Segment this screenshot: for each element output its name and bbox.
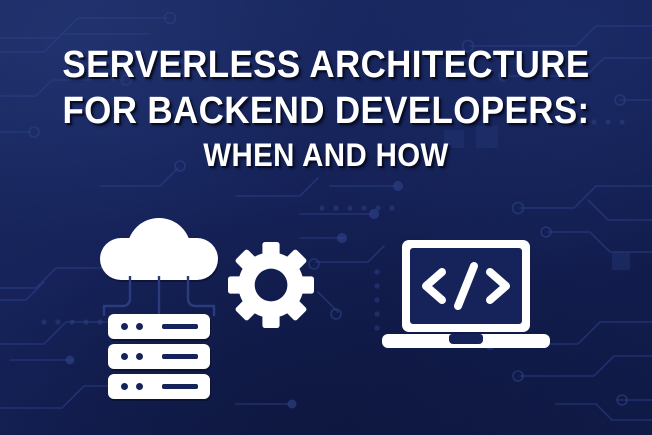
- server-indicator-dot: [121, 383, 128, 390]
- laptop-icon: [380, 238, 552, 356]
- server-slot-bar: [162, 324, 198, 329]
- poster-canvas: SERVERLESS ARCHITECTURE FOR BACKEND DEVE…: [0, 0, 652, 435]
- title-line-2: FOR BACKEND DEVELOPERS:: [26, 92, 626, 130]
- server-unit: [108, 314, 210, 339]
- title-line-3: WHEN AND HOW: [26, 139, 626, 171]
- cloud-icon: [100, 218, 218, 280]
- server-indicator-dot: [121, 353, 128, 360]
- server-unit: [108, 374, 210, 399]
- server-slot-bar: [162, 384, 198, 389]
- cloud-server-connectors: [100, 276, 218, 316]
- server-slot-bar: [162, 354, 198, 359]
- cloud-server-group: [96, 204, 222, 394]
- server-indicator-dot: [136, 353, 143, 360]
- server-indicator-dot: [136, 383, 143, 390]
- server-indicator-dot: [136, 323, 143, 330]
- poster-title: SERVERLESS ARCHITECTURE FOR BACKEND DEVE…: [0, 46, 652, 171]
- cloud-base: [100, 238, 218, 280]
- gear-icon: [228, 242, 314, 328]
- icon-row: [0, 196, 652, 406]
- server-rack-icon: [108, 314, 210, 400]
- server-indicator-dot: [121, 323, 128, 330]
- server-unit: [108, 344, 210, 369]
- title-line-1: SERVERLESS ARCHITECTURE: [26, 46, 626, 84]
